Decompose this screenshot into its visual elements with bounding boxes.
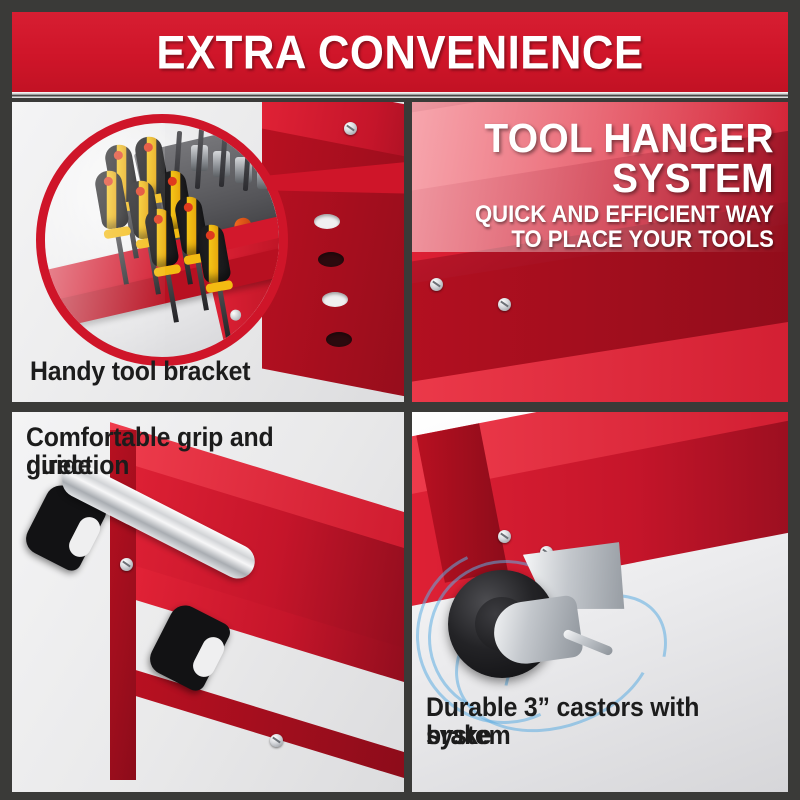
magnifier-content (45, 123, 279, 357)
headline-block: TOOL HANGER SYSTEM QUICK AND EFFICIENT W… (449, 118, 774, 252)
hanger-hole (322, 292, 348, 307)
screw-icon (270, 734, 283, 747)
hanger-hole (314, 214, 340, 229)
subhead-line-1: QUICK AND EFFICIENT WAY (475, 203, 774, 227)
panel-tool-hanger-system: TOOL HANGER SYSTEM QUICK AND EFFICIENT W… (412, 102, 788, 402)
header-banner: EXTRA CONVENIENCE (12, 12, 788, 92)
poster-root: EXTRA CONVENIENCE (0, 0, 800, 800)
silver-divider-bar (12, 92, 788, 98)
feature-panel-grid: Handy tool bracket TOOL HANGER SYSTEM QU… (12, 102, 788, 792)
caption-handy-tool-bracket: Handy tool bracket (30, 358, 250, 386)
page-title: EXTRA CONVENIENCE (39, 25, 761, 80)
panel-castor: Durable 3” castors with brake system (412, 412, 788, 792)
hanger-hole (318, 252, 344, 267)
panel-tool-bracket: Handy tool bracket (12, 102, 404, 402)
caption-grip-line-2: guide (26, 452, 91, 480)
hanger-hole (326, 332, 352, 347)
screw-icon (498, 530, 511, 543)
caption-castor-line-2: system (426, 722, 511, 750)
headline-line-1: TOOL HANGER (465, 118, 774, 158)
screw-icon (120, 558, 133, 571)
screw-icon (276, 288, 279, 301)
headline-line-2: SYSTEM (465, 158, 774, 198)
panel-handle-grip: Comfortable grip and direction guide (12, 412, 404, 792)
screw-icon (430, 278, 443, 291)
screw-icon (344, 122, 357, 135)
screw-icon (498, 298, 511, 311)
subhead-line-2: TO PLACE YOUR TOOLS (475, 228, 774, 252)
magnifier-circle (36, 114, 288, 366)
